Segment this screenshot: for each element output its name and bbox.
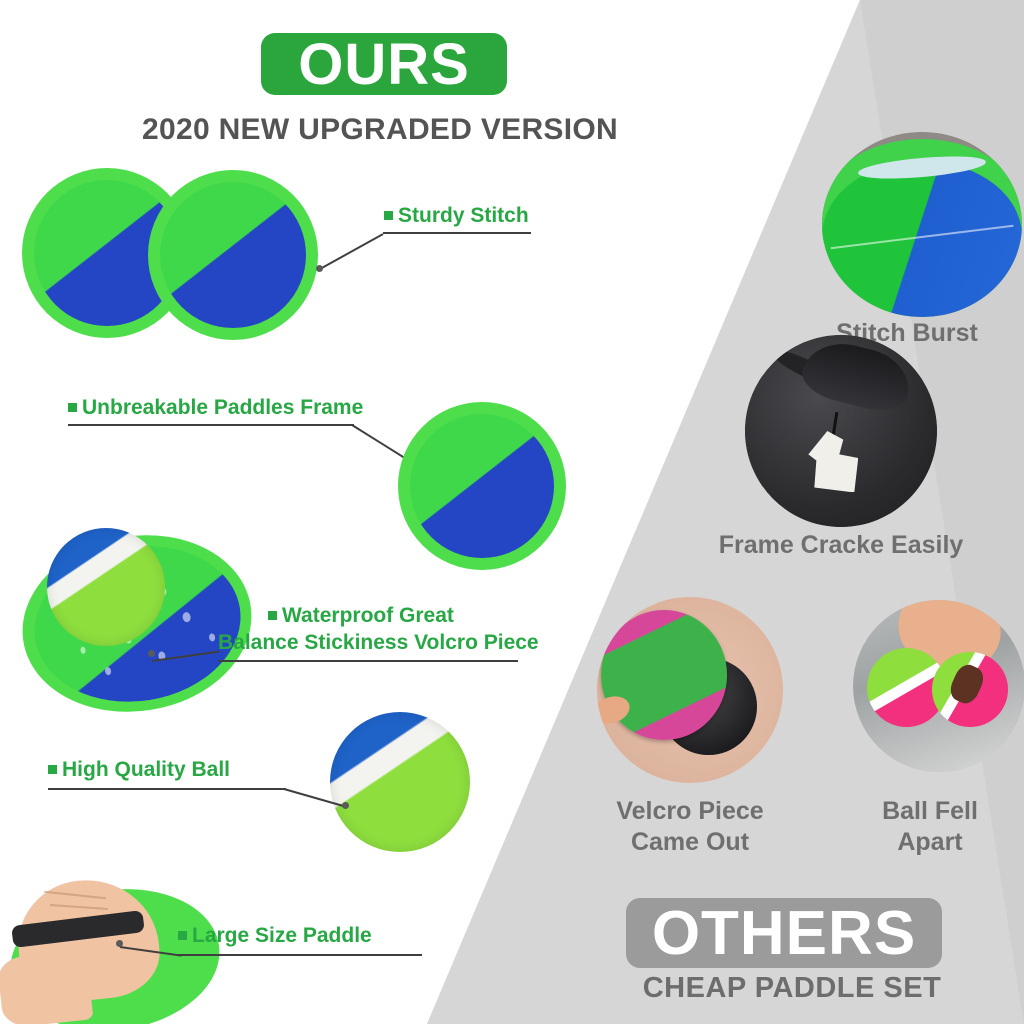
callout-unbreakable-frame: Unbreakable Paddles Frame [68,394,363,421]
callout-rule-sturdy-stitch [383,232,531,234]
caption-line1: Velcro Piece [576,796,804,827]
callout-high-quality-ball: High Quality Ball [48,756,230,783]
others-subtitle: CHEAP PADDLE SET [560,972,1024,1005]
callout-rule-high-quality-ball [48,788,286,790]
photo-velcro-came-out [597,597,783,783]
hand-with-large-paddle [10,880,230,1024]
callout-large-size-paddle: Large Size Paddle [178,922,372,949]
callout-rule-unbreakable-frame [68,424,354,426]
caption-line1: Ball Fell [830,796,1024,827]
callout-text: Sturdy Stitch [384,202,529,229]
photo-ball-fell-apart [853,600,1024,772]
callout-text: Large Size Paddle [178,922,372,949]
caption-line2: Apart [830,827,1024,858]
callout-sturdy-stitch: Sturdy Stitch [384,202,529,229]
caption-frame-crack: Frame Cracke Easily [676,530,1006,561]
ball-large [330,712,470,852]
callout-text: Unbreakable Paddles Frame [68,394,363,421]
caption-velcro-came-out: Velcro Piece Came Out [576,796,804,858]
callout-rule-waterproof-velcro [218,660,518,662]
callout-anchor-dot [342,802,349,809]
square-bullet-icon [68,403,77,412]
callout-waterproof-velcro: Waterproof Great Balance Stickiness Volc… [268,602,539,656]
callout-rule-large-size-paddle [178,954,422,956]
paddle-single [398,402,566,570]
paddle-face [410,414,554,558]
ball-on-paddle [47,528,165,646]
paddle-face [822,162,1022,317]
ours-subtitle: 2020 NEW UPGRADED VERSION [0,113,760,147]
wrist [0,949,93,1024]
infographic-canvas: OURS 2020 NEW UPGRADED VERSION Sturdy St… [0,0,1024,1024]
callout-text: High Quality Ball [48,756,230,783]
caption-line2: Came Out [576,827,804,858]
callout-text-line1: Waterproof Great [268,602,539,629]
caption-ball-fell-apart: Ball Fell Apart [830,796,1024,858]
ours-badge: OURS [261,33,507,95]
callout-anchor-dot [116,940,123,947]
callout-text-line2: Balance Stickiness Volcro Piece [218,629,539,656]
photo-stitch-burst [822,132,1022,317]
photo-frame-crack [745,335,937,527]
callout-anchor-dot [316,265,323,272]
square-bullet-icon [48,765,57,774]
callout-anchor-dot [148,650,155,657]
square-bullet-icon [178,931,187,940]
square-bullet-icon [384,211,393,220]
square-bullet-icon [268,611,277,620]
paddle-right [148,170,318,340]
paddle-face [160,182,306,328]
others-badge: OTHERS [626,898,942,968]
